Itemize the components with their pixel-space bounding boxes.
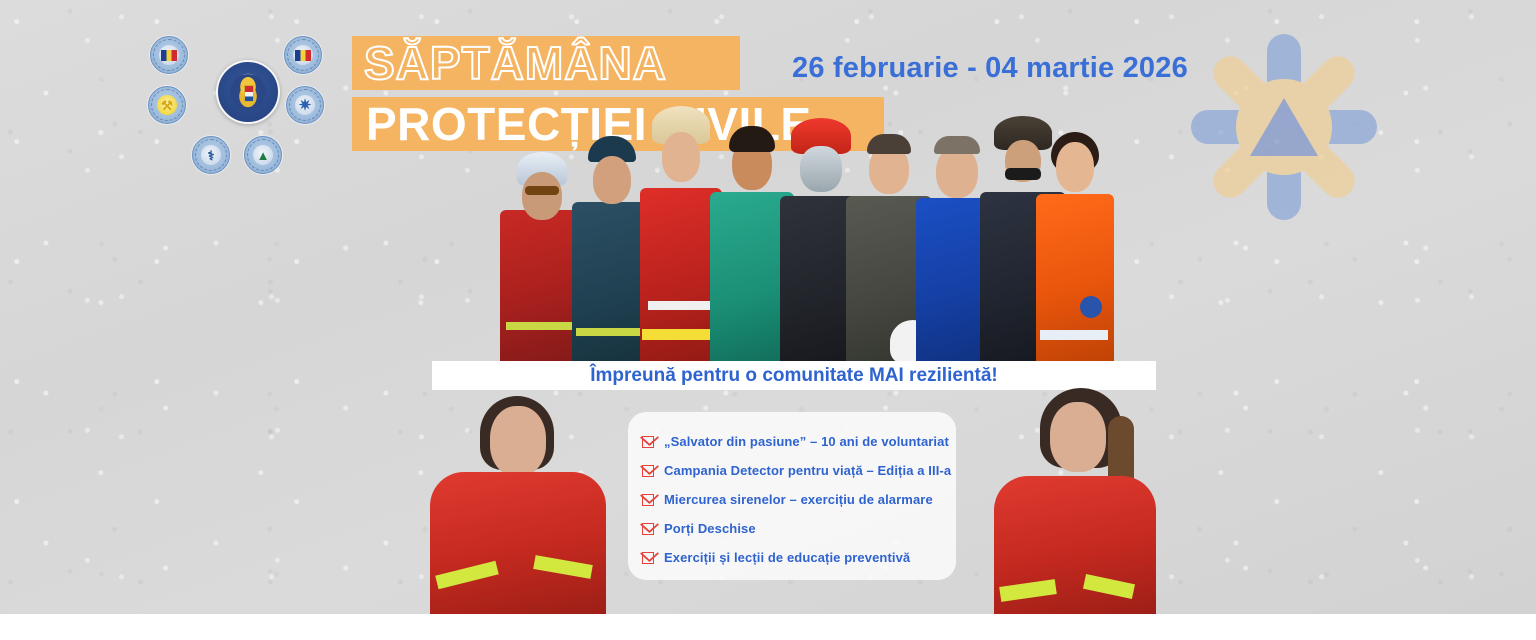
list-item: Campania Detector pentru viață – Ediția …: [642, 461, 940, 479]
slogan-text: Împreună pentru o comunitate MAI rezilie…: [590, 365, 998, 387]
list-item-label: Porți Deschise: [664, 521, 756, 536]
campaign-date-range: 26 februarie - 04 martie 2026: [792, 52, 1188, 85]
title-band-upper: SĂPTĂMÂNA: [352, 36, 740, 90]
person-smurd-paramedic-female: [1036, 194, 1114, 364]
title-line-1: SĂPTĂMÂNA: [364, 36, 667, 90]
campaign-banner: ⚒ ✷ ⚕ ▲ SĂPTĂMÂNA PROTECȚIEI CIVILE 26 f…: [0, 0, 1536, 614]
head: [1056, 142, 1094, 192]
emblem-ring: [247, 139, 279, 171]
emblem-ring: [287, 39, 319, 71]
isu-emblem: ⚒: [148, 86, 186, 124]
reflective-stripe: [506, 322, 578, 330]
emblem-ring: [151, 89, 183, 121]
medical-emblem: ⚕: [192, 136, 230, 174]
shoulder-badge: [1080, 296, 1102, 318]
emblem-ring: [153, 39, 185, 71]
checkbox-checked-icon: [642, 550, 657, 565]
emblem-ring: [195, 139, 227, 171]
checkbox-checked-icon: [642, 521, 657, 536]
head: [490, 406, 546, 476]
checkbox-checked-icon: [642, 434, 657, 449]
head: [593, 156, 631, 204]
reflective-stripe: [1040, 330, 1108, 340]
ambulance-emblem: ✷: [286, 86, 324, 124]
list-item-label: Campania Detector pentru viață – Ediția …: [664, 463, 951, 478]
hair: [934, 136, 980, 154]
list-item-label: Miercurea sirenelor – exercițiu de alarm…: [664, 492, 933, 507]
list-item: Exerciții și lecții de educație preventi…: [642, 548, 940, 566]
list-item-label: „Salvator din pasiune” – 10 ani de volun…: [664, 434, 949, 449]
head: [662, 132, 700, 182]
activities-list-card: „Salvator din pasiune” – 10 ani de volun…: [628, 412, 956, 580]
head: [1050, 402, 1106, 472]
emergency-responders-group-photo: [484, 164, 1084, 364]
breathing-mask: [800, 146, 842, 192]
volunteer-left-photo: [418, 388, 618, 614]
volunteer-right-photo: [966, 386, 1166, 614]
checkbox-checked-icon: [642, 492, 657, 507]
smurd-logo-patch: [1070, 514, 1118, 528]
igpr-emblem: [284, 36, 322, 74]
name-patch: [648, 301, 712, 310]
emblem-ring: [289, 89, 321, 121]
sunglasses-icon: [525, 186, 559, 195]
triangle-icon: [1250, 98, 1318, 156]
checkbox-checked-icon: [642, 463, 657, 478]
civil-protection-emblem: ▲: [244, 136, 282, 174]
list-item: Porți Deschise: [642, 519, 940, 537]
mai-ministry-seal: [216, 60, 280, 124]
bottom-white-strip: [0, 614, 1536, 640]
civil-protection-logo: [1186, 34, 1382, 220]
mai-institution-emblems: ⚒ ✷ ⚕ ▲: [148, 32, 348, 172]
romanian-eagle-crest: [230, 74, 266, 110]
hair: [867, 134, 911, 154]
list-item: „Salvator din pasiune” – 10 ani de volun…: [642, 432, 940, 450]
head: [522, 172, 562, 220]
igsu-emblem: [150, 36, 188, 74]
list-item-label: Exerciții și lecții de educație preventi…: [664, 550, 910, 565]
reflective-stripe: [576, 328, 646, 336]
logo-core-circle: [1236, 79, 1332, 175]
uniform-jacket: [430, 472, 606, 614]
list-item: Miercurea sirenelor – exercițiu de alarm…: [642, 490, 940, 508]
reflective-stripe: [642, 329, 718, 340]
face-mask: [1005, 168, 1041, 180]
